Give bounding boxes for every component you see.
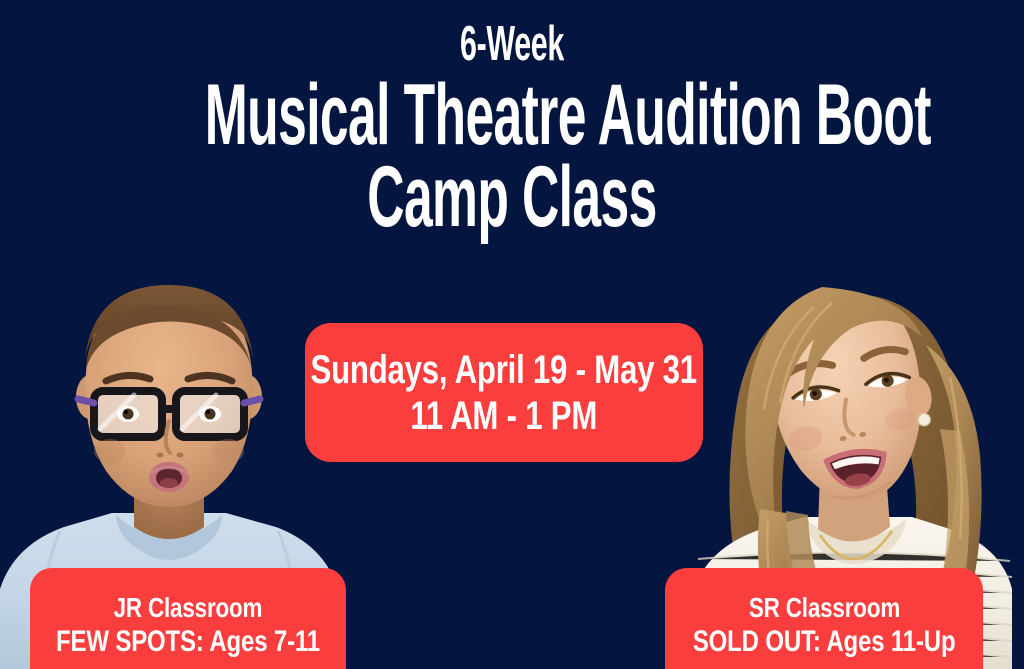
banner-times: 11 AM - 1 PM bbox=[411, 393, 598, 439]
headline-block: 6-Week Musical Theatre Audition Boot Cam… bbox=[0, 0, 1024, 238]
badge-sr-classroom: SR Classroom SOLD OUT: Ages 11-Up bbox=[665, 568, 983, 669]
promo-poster: 6-Week Musical Theatre Audition Boot Cam… bbox=[0, 0, 1024, 669]
headline-line-1: Musical Theatre Audition Boot bbox=[205, 74, 819, 156]
badge-left-detail: FEW SPOTS: Ages 7-11 bbox=[56, 624, 320, 659]
headline-eyebrow: 6-Week bbox=[195, 18, 830, 70]
date-time-banner: Sundays, April 19 - May 31 11 AM - 1 PM bbox=[305, 323, 703, 462]
badge-right-detail: SOLD OUT: Ages 11-Up bbox=[693, 624, 956, 659]
badge-right-title: SR Classroom bbox=[748, 591, 899, 624]
badge-jr-classroom: JR Classroom FEW SPOTS: Ages 7-11 bbox=[30, 568, 346, 669]
badge-left-title: JR Classroom bbox=[114, 591, 263, 624]
banner-dates: Sundays, April 19 - May 31 bbox=[311, 347, 697, 393]
headline-line-2: Camp Class bbox=[205, 156, 819, 238]
